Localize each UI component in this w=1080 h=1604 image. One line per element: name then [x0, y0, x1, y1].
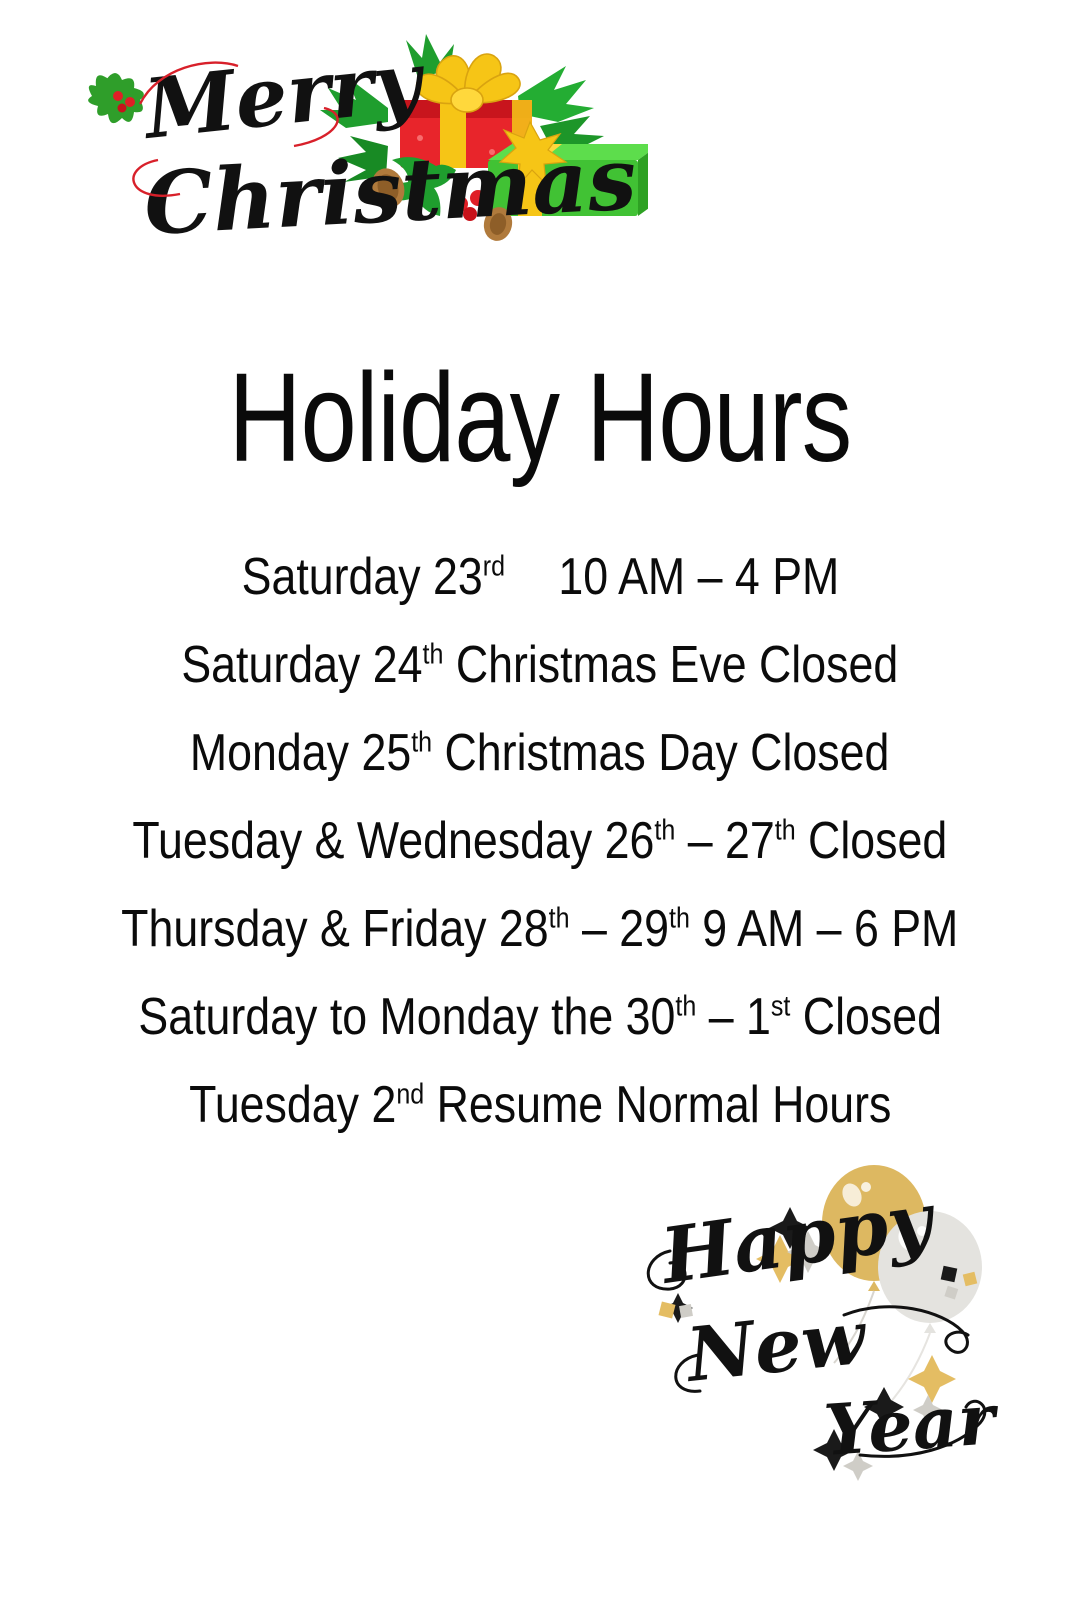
hours-ordinal: rd [482, 551, 504, 583]
hours-row-mon-25: Monday 25th Christmas Day Closed [0, 709, 1080, 797]
hours-mid: – 1 [696, 988, 771, 1046]
hours-mid: – 29 [570, 900, 669, 958]
hours-day: Saturday 23 [241, 548, 482, 606]
merry-christmas-graphic: Merry Christmas [88, 18, 648, 258]
year-word: Year [821, 1377, 1002, 1472]
hours-time: 10 AM – 4 PM [558, 548, 839, 606]
hours-ordinal-2: st [771, 991, 790, 1023]
hours-ordinal: nd [396, 1079, 424, 1111]
holiday-hours-flyer: Merry Christmas Holiday Hours Saturday 2… [0, 0, 1080, 1604]
hours-ordinal: th [675, 991, 696, 1023]
hours-ordinal: th [423, 639, 444, 671]
hours-day: Tuesday & Wednesday 26 [133, 812, 655, 870]
hours-day: Saturday 24 [182, 636, 423, 694]
hours-tail: 9 AM – 6 PM [690, 900, 958, 958]
hours-tail: Closed [790, 988, 942, 1046]
hours-ordinal: th [412, 727, 433, 759]
hours-row-tue-wed-26-27: Tuesday & Wednesday 26th – 27th Closed [0, 797, 1080, 885]
merry-word: Merry [137, 33, 431, 158]
hours-day: Thursday & Friday 28 [121, 900, 549, 958]
hours-tail: Resume Normal Hours [424, 1076, 891, 1134]
hours-row-sat-mon-30-1: Saturday to Monday the 30th – 1st Closed [0, 973, 1080, 1061]
holiday-hours-list: Saturday 23rd10 AM – 4 PM Saturday 24th … [0, 533, 1080, 1149]
hours-row-thu-fri-28-29: Thursday & Friday 28th – 29th 9 AM – 6 P… [0, 885, 1080, 973]
hours-ordinal-2: th [775, 815, 796, 847]
hours-day: Tuesday 2 [189, 1076, 396, 1134]
happy-new-year-graphic: Happy New Year [612, 1155, 1012, 1485]
hours-day: Saturday to Monday the 30 [138, 988, 675, 1046]
hours-ordinal-2: th [669, 903, 690, 935]
hours-ordinal: th [655, 815, 676, 847]
holly-leaf-icon [88, 73, 144, 123]
hours-row-sat-24: Saturday 24th Christmas Eve Closed [0, 621, 1080, 709]
hours-ordinal: th [549, 903, 570, 935]
hours-row-tue-2: Tuesday 2nd Resume Normal Hours [0, 1061, 1080, 1149]
hours-tail: Christmas Day Closed [432, 724, 889, 782]
hours-mid: – 27 [675, 812, 774, 870]
hours-row-sat-23: Saturday 23rd10 AM – 4 PM [0, 533, 1080, 621]
hours-day: Monday 25 [190, 724, 411, 782]
page-title: Holiday Hours [108, 352, 972, 484]
hours-tail: Closed [796, 812, 948, 870]
new-word: New [681, 1294, 872, 1399]
hours-tail: Christmas Eve Closed [444, 636, 899, 694]
